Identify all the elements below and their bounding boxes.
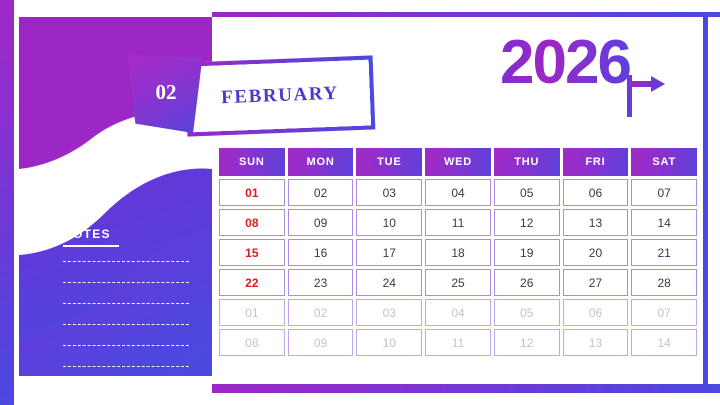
note-line[interactable] bbox=[63, 261, 189, 262]
day-cell[interactable]: 12 bbox=[494, 209, 560, 236]
day-cell[interactable]: 21 bbox=[631, 239, 697, 266]
weekday-header-mon: MON bbox=[288, 148, 354, 176]
month-badge: FEBRUARY 02 bbox=[126, 55, 366, 135]
day-cell[interactable]: 22 bbox=[219, 269, 285, 296]
calendar-grid: SUNMONTUEWEDTHUFRISAT 010203040506070809… bbox=[219, 148, 697, 359]
day-cell[interactable]: 14 bbox=[631, 329, 697, 356]
notes-title: NOTES bbox=[63, 227, 191, 245]
day-cell[interactable]: 13 bbox=[563, 329, 629, 356]
day-cell[interactable]: 03 bbox=[356, 299, 422, 326]
day-cell[interactable]: 26 bbox=[494, 269, 560, 296]
calendar-page: NOTES FEBRUARY 02 2026 bbox=[0, 0, 720, 405]
weekday-header-fri: FRI bbox=[563, 148, 629, 176]
month-number-shape: 02 bbox=[126, 55, 204, 133]
note-line[interactable] bbox=[63, 366, 189, 367]
calendar-weeks: 0102030405060708091011121314151617181920… bbox=[219, 179, 697, 356]
month-number-badge: 02 bbox=[126, 55, 204, 133]
calendar-week-row: 08091011121314 bbox=[219, 209, 697, 236]
weekday-header-tue: TUE bbox=[356, 148, 422, 176]
month-number-label: 02 bbox=[156, 80, 177, 105]
weekday-header-sun: SUN bbox=[219, 148, 285, 176]
day-cell[interactable]: 06 bbox=[563, 179, 629, 206]
day-cell[interactable]: 18 bbox=[425, 239, 491, 266]
day-cell[interactable]: 11 bbox=[425, 329, 491, 356]
day-cell[interactable]: 03 bbox=[356, 179, 422, 206]
calendar-week-row: 01020304050607 bbox=[219, 299, 697, 326]
weekday-header-thu: THU bbox=[494, 148, 560, 176]
day-cell[interactable]: 13 bbox=[563, 209, 629, 236]
day-cell[interactable]: 09 bbox=[288, 209, 354, 236]
day-cell[interactable]: 05 bbox=[494, 299, 560, 326]
day-cell[interactable]: 07 bbox=[631, 299, 697, 326]
frame-bottom-gradient-strip bbox=[212, 384, 720, 393]
year-label: 2026 bbox=[500, 32, 630, 94]
day-cell[interactable]: 04 bbox=[425, 299, 491, 326]
note-line[interactable] bbox=[63, 324, 189, 325]
day-cell[interactable]: 01 bbox=[219, 179, 285, 206]
day-cell[interactable]: 17 bbox=[356, 239, 422, 266]
day-cell[interactable]: 06 bbox=[563, 299, 629, 326]
calendar-week-row: 01020304050607 bbox=[219, 179, 697, 206]
year-block: 2026 bbox=[500, 28, 630, 98]
top-white-gap bbox=[212, 0, 720, 12]
day-cell[interactable]: 28 bbox=[631, 269, 697, 296]
weekday-header-row: SUNMONTUEWEDTHUFRISAT bbox=[219, 148, 697, 176]
day-cell[interactable]: 08 bbox=[219, 329, 285, 356]
day-cell[interactable]: 02 bbox=[288, 299, 354, 326]
day-cell[interactable]: 10 bbox=[356, 329, 422, 356]
weekday-header-sat: SAT bbox=[631, 148, 697, 176]
notes-title-underline bbox=[63, 245, 119, 247]
day-cell[interactable]: 20 bbox=[563, 239, 629, 266]
frame-right-gradient-line bbox=[703, 12, 708, 389]
day-cell[interactable]: 09 bbox=[288, 329, 354, 356]
note-line[interactable] bbox=[63, 303, 189, 304]
day-cell[interactable]: 08 bbox=[219, 209, 285, 236]
day-cell[interactable]: 16 bbox=[288, 239, 354, 266]
day-cell[interactable]: 11 bbox=[425, 209, 491, 236]
day-cell[interactable]: 02 bbox=[288, 179, 354, 206]
month-name-label: FEBRUARY bbox=[221, 83, 339, 110]
day-cell[interactable]: 15 bbox=[219, 239, 285, 266]
notes-section: NOTES bbox=[63, 227, 191, 376]
calendar-week-row: 22232425262728 bbox=[219, 269, 697, 296]
frame-top-gradient-line bbox=[212, 12, 720, 17]
day-cell[interactable]: 24 bbox=[356, 269, 422, 296]
day-cell[interactable]: 05 bbox=[494, 179, 560, 206]
month-name-box: FEBRUARY bbox=[185, 55, 376, 136]
day-cell[interactable]: 14 bbox=[631, 209, 697, 236]
left-edge-gradient-strip bbox=[0, 0, 14, 405]
day-cell[interactable]: 23 bbox=[288, 269, 354, 296]
note-line[interactable] bbox=[63, 345, 189, 346]
weekday-header-wed: WED bbox=[425, 148, 491, 176]
day-cell[interactable]: 19 bbox=[494, 239, 560, 266]
note-line[interactable] bbox=[63, 282, 189, 283]
arrow-right-icon bbox=[631, 76, 665, 92]
day-cell[interactable]: 01 bbox=[219, 299, 285, 326]
day-cell[interactable]: 07 bbox=[631, 179, 697, 206]
calendar-week-row: 08091011121314 bbox=[219, 329, 697, 356]
calendar-week-row: 15161718192021 bbox=[219, 239, 697, 266]
day-cell[interactable]: 10 bbox=[356, 209, 422, 236]
day-cell[interactable]: 27 bbox=[563, 269, 629, 296]
day-cell[interactable]: 25 bbox=[425, 269, 491, 296]
day-cell[interactable]: 04 bbox=[425, 179, 491, 206]
day-cell[interactable]: 12 bbox=[494, 329, 560, 356]
